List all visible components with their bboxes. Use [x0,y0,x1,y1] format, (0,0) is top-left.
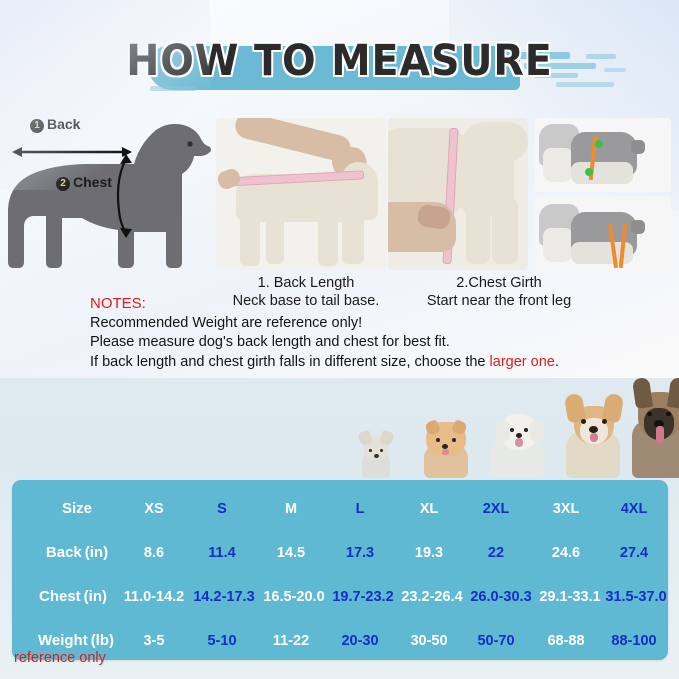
cell-chest-4xl: 31.5-37.0 [592,576,679,618]
cell-size-l: L [320,488,400,530]
photo-incorrect-placement: ✘ [535,196,671,270]
cell-weight-s: 5-10 [182,620,262,662]
dog-photo-german-shepherd [632,378,679,478]
cell-weight-4xl: 88-100 [594,620,674,662]
table-row-back: Back (in) 8.6 11.4 14.5 17.3 19.3 22 24.… [12,532,668,574]
brush-fleck-icon [150,86,196,91]
title-banner: HOW TO MEASURE [0,30,679,102]
dog-photo-corgi [558,392,628,478]
dog-beard-shape [543,148,573,182]
table-row-size: Size XS S M L XL 2XL 3XL 4XL [12,488,668,530]
badge-number-1: 1 [30,119,44,133]
cell-weight-2xl: 50-70 [456,620,536,662]
caption-back-length-title: 1. Back Length [216,274,396,292]
mannequin-leg [240,214,260,266]
notes-block: NOTES: Recommended Weight are reference … [90,294,650,372]
table-row-chest: Chest (in) 11.0-14.2 14.2-17.3 16.5-20.0… [12,576,668,618]
top-info-section: HOW TO MEASURE 1Back 2Chest [0,0,679,378]
notes-line-3-pre: If back length and chest girth falls in … [90,354,490,370]
dog-photo-bichon [486,408,548,478]
marker-dot-icon [585,168,593,176]
cell-back-s: 11.4 [182,532,262,574]
dog-photo-pomeranian [418,418,474,478]
back-label-text: Back [47,116,80,132]
cell-weight-m: 11-22 [251,620,331,662]
cell-size-s: S [182,488,262,530]
notes-line-3: If back length and chest girth falls in … [90,353,650,373]
dog-silhouette-icon [4,112,216,284]
notes-heading: NOTES: [90,294,650,314]
dog-underbelly-shape [571,162,633,184]
cell-back-l: 17.3 [320,532,400,574]
table-row-weight: Weight (lb) 3-5 5-10 11-22 20-30 30-50 5… [12,620,668,662]
dog-silhouette-diagram: 1Back 2Chest [4,112,216,284]
mannequin-leg [266,214,284,264]
dog-tail-shape [631,140,645,154]
photo-back-length-measurement: 1 [216,118,386,270]
mannequin-leg [342,214,364,264]
dog-tail-shape [631,220,645,234]
notes-line-3-post: . [555,354,559,370]
cell-size-4xl: 4XL [594,488,674,530]
chest-label-text: Chest [73,174,112,190]
photo-correct-placement: ✔ [535,118,671,192]
reference-only-note: reference only [14,650,106,666]
dog-photo-strip [340,378,679,478]
notes-line-3-emphasis: larger one [490,354,555,370]
page-title: HOW TO MEASURE [27,30,652,92]
cell-back-m: 14.5 [251,532,331,574]
mannequin-neck [480,122,528,162]
chest-measurement-label: 2Chest [56,174,112,191]
caption-chest-girth-title: 2.Chest Girth [404,274,594,292]
size-chart-table: Size XS S M L XL 2XL 3XL 4XL Back (in) 8… [12,480,668,660]
notes-line-1: Recommended Weight are reference only! [90,314,650,334]
cell-back-4xl: 27.4 [594,532,674,574]
notes-line-2: Please measure dog's back length and che… [90,333,650,353]
cell-weight-l: 20-30 [320,620,400,662]
back-measurement-label: 1Back [30,116,80,133]
cell-size-2xl: 2XL [456,488,536,530]
cell-size-m: M [251,488,331,530]
mannequin-leg [318,214,338,266]
photo-chest-girth-measurement: 2 [388,118,528,270]
dog-photo-chihuahua [354,430,398,478]
marker-dot-icon [595,140,603,148]
mannequin-leg [466,202,490,264]
cell-back-2xl: 22 [456,532,536,574]
mannequin-leg [492,198,518,264]
dog-beard-shape [543,228,573,262]
badge-number-2: 2 [56,177,70,191]
size-chart-section: Size XS S M L XL 2XL 3XL 4XL Back (in) 8… [0,378,679,679]
